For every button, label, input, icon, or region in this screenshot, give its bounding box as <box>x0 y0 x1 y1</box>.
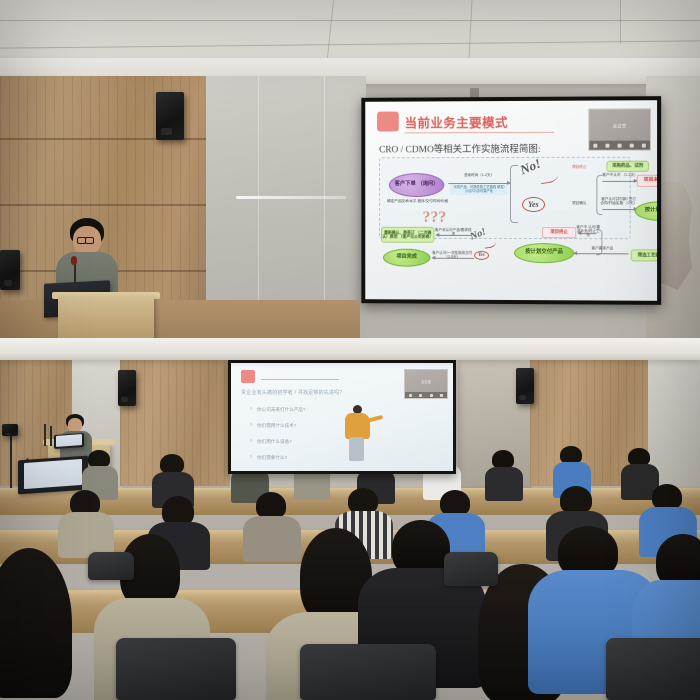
slide-upper: 当前业务主要模式 CRO / CDMO等相关工作实施流程简图: 会议室 客户下单… <box>365 100 657 301</box>
flow-edge-2 <box>602 181 636 182</box>
slide2-share-icon <box>430 394 433 397</box>
video-conference-overlay: 会议室 <box>588 108 651 150</box>
lecture-hall-photo: 当前业务主要模式 CRO / CDMO等相关工作实施流程简图: 会议室 客户下单… <box>0 0 700 700</box>
glasses-icon <box>77 237 94 242</box>
slide-subtitle: CRO / CDMO等相关工作实施流程简图: <box>379 141 541 155</box>
chair-3 <box>606 638 700 700</box>
video-overlay-toolbar <box>589 141 650 150</box>
presenter2-head <box>68 418 82 432</box>
wall-speaker-icon-2 <box>0 250 20 290</box>
flow-edge-6-note: 客户未认可产品/要求改进 <box>434 228 472 236</box>
question-mark-illustration: ??? <box>422 209 446 227</box>
video-camera-icon <box>605 143 609 147</box>
wall-light-strip <box>236 196 346 199</box>
flow-node-deliver: 按计划交付产品 <box>514 243 574 263</box>
chair-4 <box>444 552 498 586</box>
flow-edge-7-note: 客户认可/一次性验收交付 （2-5天） <box>430 251 474 259</box>
flow-node-terminate-2: 项目终止 <box>542 227 576 238</box>
slide-title-rule <box>405 132 554 134</box>
flow-node-project-complete: 项目完成 <box>383 249 430 267</box>
flow-edge-5-note: 客户要求产品 <box>578 246 626 250</box>
slide2-bullet-4: 你们需要什么? <box>257 455 287 461</box>
slide2-camera-icon <box>419 394 422 397</box>
flow-decision-yes-2: Yes <box>474 251 489 260</box>
slide2-video-overlay: 会议室 <box>404 369 448 399</box>
video-members-icon <box>630 143 634 147</box>
lower-ceiling-soffit <box>0 338 700 360</box>
flow-decision-yes: Yes <box>522 197 545 212</box>
flow-node-reconfirm: 重新确认、再签订 （二次确认）费用 （客户与公司协商） <box>381 227 434 243</box>
wall-speaker-icon-4 <box>516 368 534 404</box>
camera-head-icon <box>2 424 18 436</box>
flow-edge-3-note: 客户认可并付款/ 签订合同/开始实施 （2天） <box>600 197 636 205</box>
wall-speaker-icon <box>156 92 184 140</box>
microphone-head-1 <box>71 256 77 265</box>
chair-1 <box>116 638 236 700</box>
flow-node-select-route: 筛选工艺路线 <box>631 249 657 261</box>
slide2-video-toolbar <box>405 392 447 398</box>
illustration-body <box>345 413 370 439</box>
slide2-bullet-1: 你公司未来打什么产品? <box>257 407 306 413</box>
slide-accent-block <box>377 112 399 132</box>
video-mic-icon <box>593 143 597 147</box>
slide2-bullet-2: 你们需用什么技术? <box>257 423 296 429</box>
slide2-heading: 贵企业有头痛的初学者 / 寻找足够的先进吗? <box>241 389 342 396</box>
slide2-accent-block <box>241 370 255 383</box>
podium <box>58 296 154 342</box>
flow-node-start: 客户下单 （询问） <box>389 173 444 197</box>
slide-lower: 贵企业有头痛的初学者 / 寻找足够的先进吗? 你公司未来打什么产品? 你们需用什… <box>231 363 453 471</box>
microphone-stand-3 <box>50 426 52 446</box>
flow-edge-3 <box>602 209 636 210</box>
flowchart: 客户下单 （询问） 确定产品技术/水平 程序/交付时间/价格 ??? 咨询时间（… <box>375 155 649 295</box>
video-more-icon <box>642 143 646 147</box>
hair <box>160 454 184 474</box>
hair <box>560 486 592 514</box>
slide2-bullet-3: 你们用什么设备? <box>257 439 292 445</box>
projector-screen-lower: 贵企业有头痛的初学者 / 寻找足够的先进吗? 你公司未来打什么产品? 你们需用什… <box>228 360 456 474</box>
chair-5 <box>88 552 134 580</box>
video-overlay-label: 会议室 <box>589 123 650 129</box>
slide2-video-label: 会议室 <box>405 379 447 384</box>
slide-title: 当前业务主要模式 <box>405 112 508 131</box>
torso <box>243 516 301 562</box>
hair <box>0 548 72 698</box>
flow-start-note: 确定产品技术/水平 程序/交付时间/价格 <box>387 199 448 203</box>
podium-laptop-lower <box>54 433 84 449</box>
flow-edge-1 <box>448 183 510 184</box>
flow-edge-5 <box>574 253 629 254</box>
microphone-stand-2 <box>44 424 46 446</box>
wall-panel-gray <box>206 76 366 338</box>
slide2-mic-icon <box>409 394 412 397</box>
lower-room-view: 贵企业有头痛的初学者 / 寻找足够的先进吗? 你公司未来打什么产品? 你们需用什… <box>0 338 700 700</box>
slide2-rule <box>261 379 339 380</box>
video-share-icon <box>618 143 622 147</box>
flow-edge-2-note: 客户不认可 （1-2天） <box>602 173 636 177</box>
hair <box>256 492 286 519</box>
flow-node-not-implemented: 项目未实施已终止 <box>637 175 657 187</box>
flow-decision-brace <box>510 165 518 223</box>
flow-node-purchase: 采购药品、试剂 <box>606 161 649 172</box>
flow-node-complete-as-planned: 按计划完成工作 <box>635 201 657 221</box>
flow-no-swoosh-2 <box>483 238 496 249</box>
microphone-stand-1 <box>74 262 76 296</box>
flow-edge-4-note: 客户不 认可/要求补充/终止工作 <box>576 225 600 237</box>
flow-label-confirm: 项目确认 <box>562 201 596 205</box>
projector-screen-upper: 当前业务主要模式 CRO / CDMO等相关工作实施流程简图: 会议室 客户下单… <box>361 96 661 305</box>
flow-edge-1-note: 可供产品、可提供的工艺路线 研发/小试/中试/可量产化 <box>450 185 508 195</box>
flow-label-terminate-1: 项目终止 <box>562 165 596 169</box>
illustration-legs <box>349 437 364 461</box>
audience-laptop <box>18 456 88 495</box>
slide2-more-icon <box>440 394 443 397</box>
chair-2 <box>300 644 436 700</box>
torso <box>485 467 523 501</box>
flow-edge-1-label: 咨询时间（1-2天） <box>450 173 508 177</box>
wall-speaker-icon-3 <box>118 370 136 406</box>
